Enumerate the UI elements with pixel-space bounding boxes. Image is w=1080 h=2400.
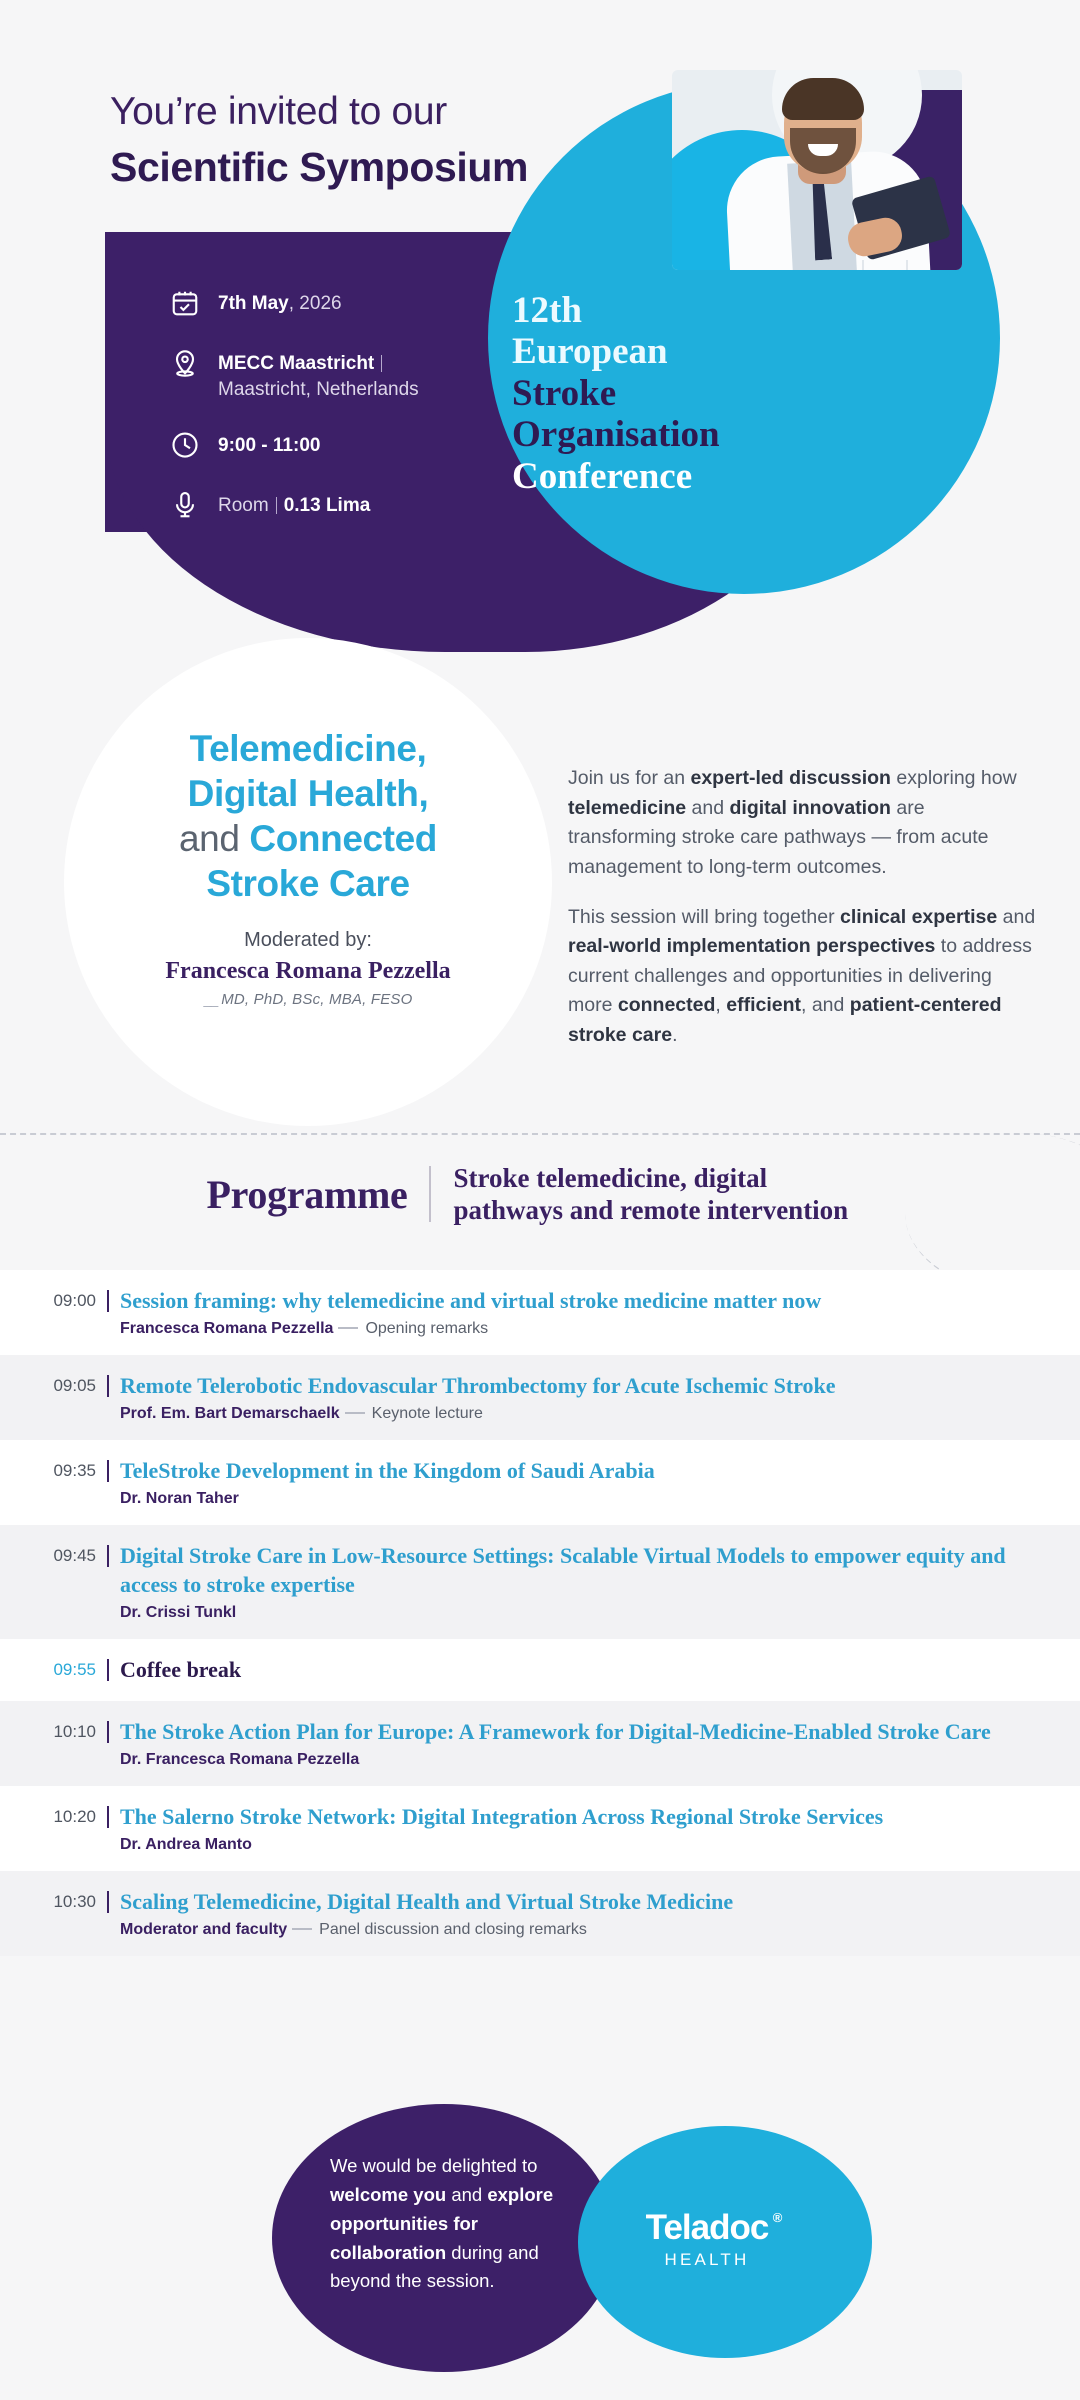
row-accent-bar xyxy=(96,1372,120,1397)
row-title: The Salerno Stroke Network: Digital Inte… xyxy=(120,1803,1010,1831)
row-speaker: Moderator and faculty xyxy=(120,1921,287,1938)
row-meta: Dr. Crissi Tunkl xyxy=(120,1604,1010,1622)
symposium-title: Scientific Symposium xyxy=(110,141,528,194)
session-title-line-3-lite: and xyxy=(179,818,249,859)
teladoc-name: Teladoc xyxy=(646,2208,769,2247)
moderated-by-label: Moderated by: xyxy=(108,929,508,952)
venue-divider xyxy=(381,355,382,372)
programme-subheading: Stroke telemedicine, digital pathways an… xyxy=(453,1162,873,1227)
footer-section: We would be delighted to welcome you and… xyxy=(0,2090,1080,2400)
row-title: Scaling Telemedicine, Digital Health and… xyxy=(120,1888,1010,1916)
row-accent-bar xyxy=(96,1656,120,1681)
detail-row-date: 7th May, 2026 xyxy=(168,286,419,320)
teladoc-wordmark: Teladoc® xyxy=(646,2208,769,2248)
row-accent-bar xyxy=(96,1803,120,1828)
room-number: 0.13 Lima xyxy=(284,495,371,516)
venue-city: Maastricht, Netherlands xyxy=(218,379,419,400)
conference-line-1: 12th xyxy=(512,290,812,331)
schedule-row-break[interactable]: 09:55 Coffee break xyxy=(0,1639,1080,1701)
time-range: 9:00 - 11:00 xyxy=(218,435,320,456)
conference-title: 12th European Stroke Organisation Confer… xyxy=(512,290,812,497)
row-accent-bar xyxy=(96,1457,120,1482)
row-time: 09:35 xyxy=(0,1457,96,1481)
row-speaker: Dr. Andrea Manto xyxy=(120,1836,252,1853)
moderator-credentials-text: MD, PhD, BSc, MBA, FESO xyxy=(221,991,412,1008)
row-title: Coffee break xyxy=(120,1656,1010,1684)
row-role: Opening remarks xyxy=(365,1320,488,1337)
conference-line-5: Conference xyxy=(512,456,812,497)
row-accent-bar xyxy=(96,1542,120,1567)
row-meta: Dr. Noran Taher xyxy=(120,1490,1010,1508)
session-description: Join us for an expert-led discussion exp… xyxy=(568,764,1038,1071)
programme-header: Programme Stroke telemedicine, digital p… xyxy=(0,1162,1080,1227)
venue-name: MECC Maastricht xyxy=(218,353,374,374)
row-speaker: Francesca Romana Pezzella xyxy=(120,1320,333,1337)
date-strong: 7th May xyxy=(218,293,289,314)
session-title: Telemedicine, Digital Health, and Connec… xyxy=(108,726,508,907)
programme-heading: Programme xyxy=(207,1171,408,1218)
speaker-photo xyxy=(672,70,962,270)
session-title-line-1: Telemedicine xyxy=(190,728,417,769)
row-accent-bar xyxy=(96,1888,120,1913)
moderator-credentials: __MD, PhD, BSc, MBA, FESO xyxy=(108,991,508,1008)
schedule-row[interactable]: 10:20 The Salerno Stroke Network: Digita… xyxy=(0,1786,1080,1871)
session-title-line-3-bold: Connected xyxy=(249,818,437,859)
schedule-row[interactable]: 09:45 Digital Stroke Care in Low-Resourc… xyxy=(0,1525,1080,1638)
detail-row-room: Room0.13 Lima xyxy=(168,488,419,522)
conference-line-2: European xyxy=(512,331,812,372)
programme-schedule: 09:00 Session framing: why telemedicine … xyxy=(0,1270,1080,1956)
teladoc-logo: Teladoc® HEALTH xyxy=(592,2208,822,2270)
microphone-icon xyxy=(168,488,202,522)
session-title-line-2: Digital Health xyxy=(188,773,419,814)
row-time: 09:45 xyxy=(0,1542,96,1566)
row-role: Keynote lecture xyxy=(372,1405,483,1422)
detail-row-venue: MECC Maastricht Maastricht, Netherlands xyxy=(168,346,419,402)
detail-room-text: Room0.13 Lima xyxy=(218,488,370,519)
invitation-page: You’re invited to our Scientific Symposi… xyxy=(0,0,1080,2400)
row-meta: Prof. Em. Bart DemarschaelkKeynote lectu… xyxy=(120,1405,1010,1423)
row-speaker: Prof. Em. Bart Demarschaelk xyxy=(120,1405,340,1422)
schedule-row[interactable]: 09:05 Remote Telerobotic Endovascular Th… xyxy=(0,1355,1080,1440)
registered-mark-icon: ® xyxy=(773,2210,782,2225)
conference-line-4: Organisation xyxy=(512,414,812,455)
row-speaker: Dr. Francesca Romana Pezzella xyxy=(120,1751,359,1768)
row-time: 10:10 xyxy=(0,1718,96,1742)
row-time: 10:20 xyxy=(0,1803,96,1827)
hero-heading: You’re invited to our Scientific Symposi… xyxy=(110,88,528,194)
teladoc-health-label: HEALTH xyxy=(592,2250,822,2270)
row-meta: Dr. Francesca Romana Pezzella xyxy=(120,1751,1010,1769)
row-accent-bar xyxy=(96,1287,120,1312)
schedule-row[interactable]: 09:00 Session framing: why telemedicine … xyxy=(0,1270,1080,1355)
row-title: TeleStroke Development in the Kingdom of… xyxy=(120,1457,1010,1485)
detail-date-text: 7th May, 2026 xyxy=(218,286,342,317)
conference-line-3: Stroke xyxy=(512,373,812,414)
schedule-row[interactable]: 10:30 Scaling Telemedicine, Digital Heal… xyxy=(0,1871,1080,1956)
session-paragraph-1: Join us for an expert-led discussion exp… xyxy=(568,764,1038,883)
session-paragraph-2: This session will bring together clinica… xyxy=(568,903,1038,1051)
row-time: 09:55 xyxy=(0,1656,96,1680)
hero-section: You’re invited to our Scientific Symposi… xyxy=(0,0,1080,1128)
row-title: Session framing: why telemedicine and vi… xyxy=(120,1287,1010,1315)
row-time: 10:30 xyxy=(0,1888,96,1912)
session-title-block: Telemedicine, Digital Health, and Connec… xyxy=(108,726,508,1008)
room-divider xyxy=(276,497,277,514)
moderator-name: Francesca Romana Pezzella xyxy=(108,958,508,985)
date-year: , 2026 xyxy=(289,293,342,314)
detail-row-time: 9:00 - 11:00 xyxy=(168,428,419,462)
session-title-line-4: Stroke Care xyxy=(206,863,409,904)
room-label: Room xyxy=(218,495,269,516)
row-meta: Dr. Andrea Manto xyxy=(120,1836,1010,1854)
row-role: Panel discussion and closing remarks xyxy=(319,1921,587,1938)
detail-time-text: 9:00 - 11:00 xyxy=(218,428,320,459)
row-speaker: Dr. Noran Taher xyxy=(120,1490,239,1507)
footer-message: We would be delighted to welcome you and… xyxy=(330,2152,574,2296)
row-meta: Moderator and facultyPanel discussion an… xyxy=(120,1921,1010,1939)
row-speaker: Dr. Crissi Tunkl xyxy=(120,1604,236,1621)
row-meta: Francesca Romana PezzellaOpening remarks xyxy=(120,1320,1010,1338)
row-title: Remote Telerobotic Endovascular Thrombec… xyxy=(120,1372,1010,1400)
row-title: Digital Stroke Care in Low-Resource Sett… xyxy=(120,1542,1010,1598)
invite-line: You’re invited to our xyxy=(110,88,528,137)
row-accent-bar xyxy=(96,1718,120,1743)
clock-icon xyxy=(168,428,202,462)
event-details-list: 7th May, 2026 MECC Maastricht Maastricht… xyxy=(168,286,419,548)
detail-venue-text: MECC Maastricht Maastricht, Netherlands xyxy=(218,346,419,402)
schedule-row[interactable]: 10:10 The Stroke Action Plan for Europe:… xyxy=(0,1701,1080,1786)
row-title: The Stroke Action Plan for Europe: A Fra… xyxy=(120,1718,1010,1746)
section-divider xyxy=(0,1133,1080,1135)
schedule-row[interactable]: 09:35 TeleStroke Development in the King… xyxy=(0,1440,1080,1525)
location-pin-icon xyxy=(168,346,202,380)
programme-header-divider xyxy=(429,1166,431,1222)
row-time: 09:00 xyxy=(0,1287,96,1311)
calendar-icon xyxy=(168,286,202,320)
row-time: 09:05 xyxy=(0,1372,96,1396)
